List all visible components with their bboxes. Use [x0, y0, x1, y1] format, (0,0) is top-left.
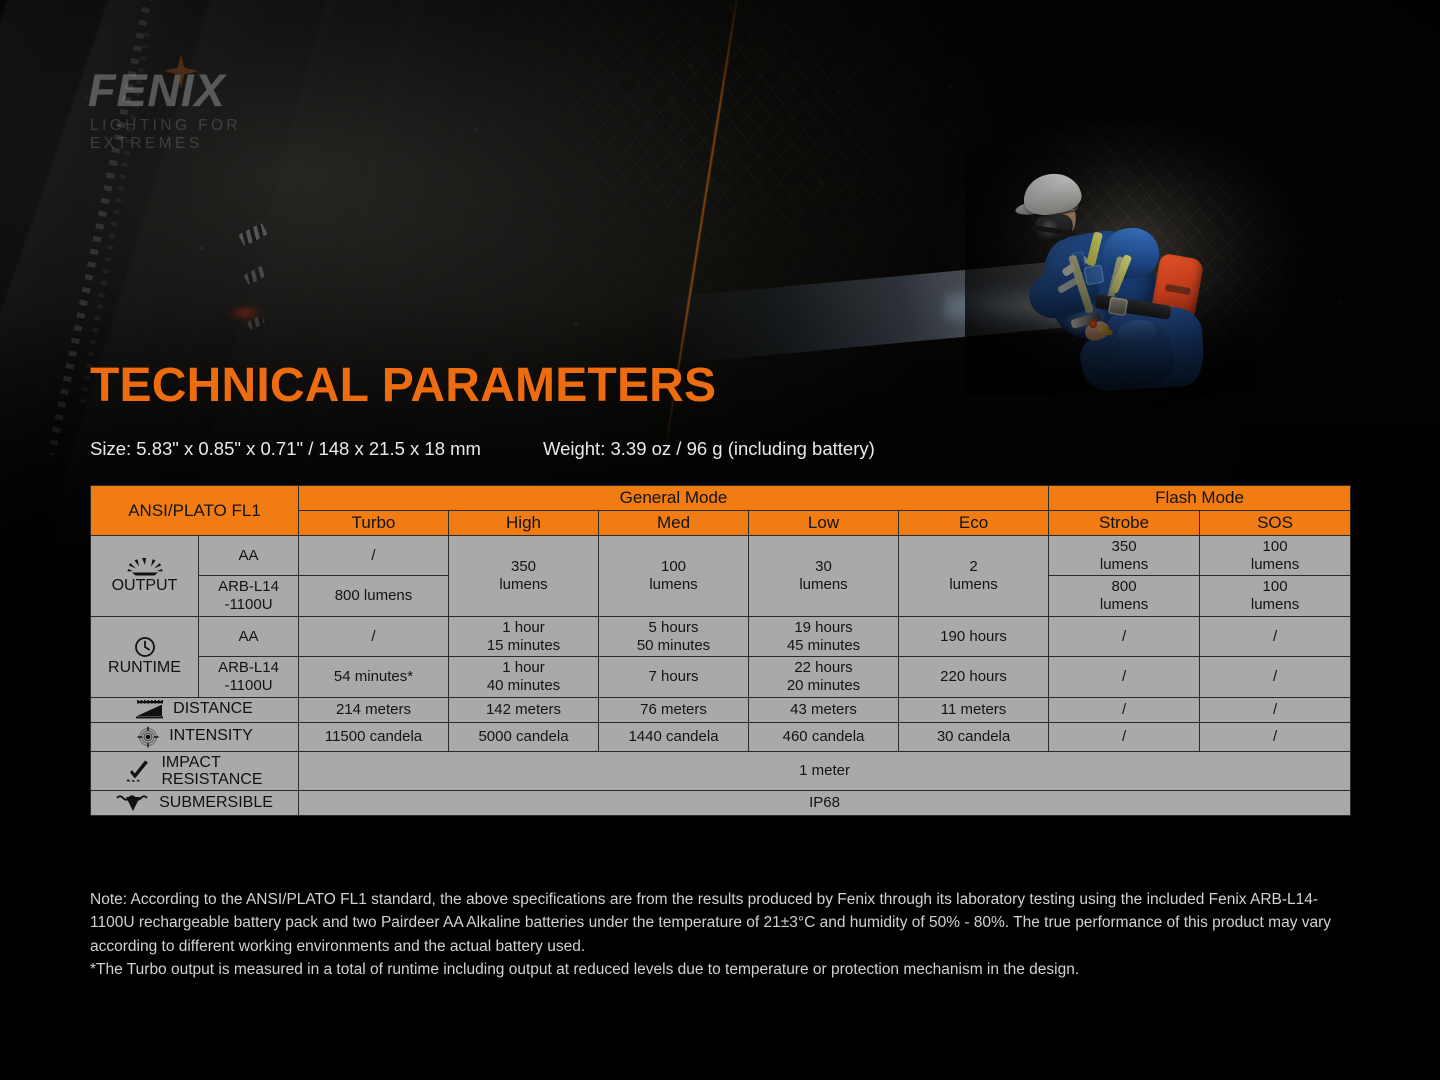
miner-belt-buckle — [1108, 297, 1128, 317]
table-row: INTENSITY11500 candela5000 candela1440 c… — [91, 722, 1351, 751]
fenix-logo-tagline: LIGHTING FOR EXTREMES — [90, 117, 324, 153]
table-cell: 30lumens — [749, 536, 899, 617]
table-cell: / — [1049, 697, 1200, 722]
table-cell: / — [299, 536, 449, 576]
table-cell: 19 hours45 minutes — [749, 616, 899, 656]
table-cell: 11 meters — [899, 697, 1049, 722]
table-cell: 1440 candela — [599, 722, 749, 751]
spec-table-wrapper: ANSI/PLATO FL1 General Mode Flash Mode T… — [90, 485, 1350, 816]
footnote-block: Note: According to the ANSI/PLATO FL1 st… — [90, 888, 1356, 981]
sunburst-icon — [127, 556, 163, 576]
footnote-paragraph-1: Note: According to the ANSI/PLATO FL1 st… — [90, 888, 1356, 958]
table-cell: / — [1200, 697, 1351, 722]
table-cell: 5 hours50 minutes — [599, 616, 749, 656]
table-cell: 30 candela — [899, 722, 1049, 751]
column-header-sos: SOS — [1200, 511, 1351, 536]
row-label-impact-resistance: IMPACTRESISTANCE — [91, 751, 299, 791]
flashlight-red-indicator — [1089, 320, 1097, 328]
column-header-high: High — [449, 511, 599, 536]
table-cell-span: IP68 — [299, 791, 1351, 816]
table-cell: / — [1200, 722, 1351, 751]
product-spec-page: FENIX LIGHTING FOR EXTREMES TECHNICAL PA… — [0, 0, 1440, 1080]
table-cell: 142 meters — [449, 697, 599, 722]
battery-type-cell: AA — [199, 616, 299, 656]
column-header-turbo: Turbo — [299, 511, 449, 536]
column-header-low: Low — [749, 511, 899, 536]
table-cell: 1 hour40 minutes — [449, 657, 599, 697]
impact-check-icon — [126, 760, 152, 782]
table-cell: 350lumens — [1049, 536, 1200, 576]
fenix-logo-wordmark: FENIX — [88, 68, 226, 113]
table-cell: 22 hours20 minutes — [749, 657, 899, 697]
footnote-paragraph-2: *The Turbo output is measured in a total… — [90, 958, 1356, 981]
table-cell: 5000 candela — [449, 722, 599, 751]
table-cell: / — [299, 616, 449, 656]
table-cell: 800 lumens — [299, 576, 449, 616]
table-row: OUTPUTAA/350lumens100lumens30lumens2lume… — [91, 536, 1351, 576]
fenix-logo: FENIX LIGHTING FOR EXTREMES — [88, 68, 324, 140]
table-cell: 7 hours — [599, 657, 749, 697]
table-cell: / — [1049, 616, 1200, 656]
table-row: SUBMERSIBLE IP68 — [91, 791, 1351, 816]
table-cell: 54 minutes* — [299, 657, 449, 697]
group-header-flash-mode: Flash Mode — [1049, 486, 1351, 511]
ansi-plato-corner-label: ANSI/PLATO FL1 — [91, 486, 299, 536]
table-cell: 460 candela — [749, 722, 899, 751]
technical-parameters-table: ANSI/PLATO FL1 General Mode Flash Mode T… — [90, 485, 1351, 816]
table-row: RUNTIMEAA/1 hour15 minutes5 hours50 minu… — [91, 616, 1351, 656]
table-cell: 100lumens — [1200, 536, 1351, 576]
column-header-med: Med — [599, 511, 749, 536]
row-label-intensity: INTENSITY — [91, 722, 299, 751]
page-title: TECHNICAL PARAMETERS — [90, 362, 716, 410]
table-cell: / — [1049, 657, 1200, 697]
miner-chest-badge — [1084, 265, 1105, 286]
target-intensity-icon — [136, 725, 160, 749]
column-header-eco: Eco — [899, 511, 1049, 536]
table-cell: 214 meters — [299, 697, 449, 722]
table-cell: 100lumens — [599, 536, 749, 617]
battery-type-cell: ARB-L14-1100U — [199, 657, 299, 697]
table-cell: 350lumens — [449, 536, 599, 617]
table-cell: / — [1200, 657, 1351, 697]
table-row: ARB-L14-1100U54 minutes*1 hour40 minutes… — [91, 657, 1351, 697]
table-cell: 100lumens — [1200, 576, 1351, 616]
size-text: Size: 5.83" x 0.85" x 0.71" / 148 x 21.5… — [90, 438, 481, 459]
table-header-row-groups: ANSI/PLATO FL1 General Mode Flash Mode — [91, 486, 1351, 511]
water-submersible-icon — [116, 793, 150, 813]
table-cell: 800lumens — [1049, 576, 1200, 616]
table-cell: 220 hours — [899, 657, 1049, 697]
table-cell: 76 meters — [599, 697, 749, 722]
row-label-output: OUTPUT — [91, 536, 199, 617]
table-cell: 1 hour15 minutes — [449, 616, 599, 656]
group-header-general-mode: General Mode — [299, 486, 1049, 511]
table-cell: 190 hours — [899, 616, 1049, 656]
table-body: ANSI/PLATO FL1 General Mode Flash Mode T… — [91, 486, 1351, 816]
battery-type-cell: AA — [199, 536, 299, 576]
size-weight-line: Size: 5.83" x 0.85" x 0.71" / 148 x 21.5… — [90, 438, 875, 460]
table-cell: 43 meters — [749, 697, 899, 722]
table-cell: 2lumens — [899, 536, 1049, 617]
row-label-runtime: RUNTIME — [91, 616, 199, 697]
table-cell: / — [1049, 722, 1200, 751]
table-cell: 11500 candela — [299, 722, 449, 751]
row-label-distance: DISTANCE — [91, 697, 299, 722]
table-row: IMPACTRESISTANCE 1 meter — [91, 751, 1351, 791]
clock-icon — [134, 636, 156, 658]
table-cell-span: 1 meter — [299, 751, 1351, 791]
battery-type-cell: ARB-L14-1100U — [199, 576, 299, 616]
column-header-strobe: Strobe — [1049, 511, 1200, 536]
row-label-submersible: SUBMERSIBLE — [91, 791, 299, 816]
weight-text: Weight: 3.39 oz / 96 g (including batter… — [543, 438, 875, 459]
miner-photo — [985, 170, 1245, 385]
distance-ruler-icon — [136, 700, 164, 720]
table-row: DISTANCE214 meters142 meters76 meters43 … — [91, 697, 1351, 722]
table-cell: / — [1200, 616, 1351, 656]
